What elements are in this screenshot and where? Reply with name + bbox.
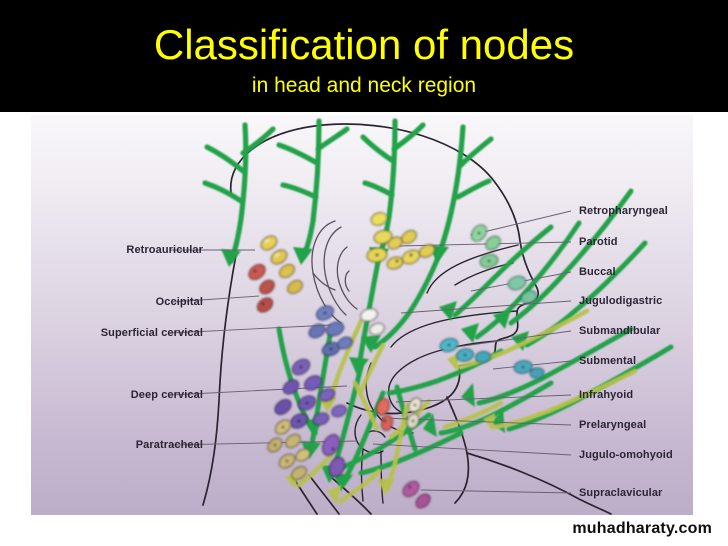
- label-jugulodigastric: Jugulodigastric: [579, 295, 662, 307]
- submandibular-nodes: [439, 337, 492, 364]
- label-occipital: Occipital: [31, 296, 203, 308]
- label-superficial-cervical: Superficial cervical: [31, 327, 203, 339]
- page-subtitle: in head and neck region: [0, 74, 728, 98]
- ear-outline: [312, 221, 357, 323]
- label-paratracheal: Paratracheal: [31, 439, 203, 451]
- lymph-node-diagram: Retroauricular Occipital Superficial cer…: [31, 115, 693, 515]
- lymphatic-vessels-scalp: [205, 121, 491, 261]
- slide-canvas: Classification of nodes in head and neck…: [0, 0, 728, 546]
- label-submental: Submental: [579, 355, 636, 367]
- footer-watermark: muhadharaty.com: [572, 520, 712, 538]
- label-prelaryngeal: Prelaryngeal: [579, 419, 646, 431]
- label-deep-cervical: Deep cervical: [31, 389, 203, 401]
- page-title: Classification of nodes: [0, 22, 728, 68]
- label-retroauricular: Retroauricular: [31, 244, 203, 256]
- title-band: Classification of nodes in head and neck…: [0, 0, 728, 112]
- label-retropharyngeal: Retropharyngeal: [579, 205, 668, 217]
- facial-interior-outline: [355, 245, 518, 503]
- label-submandibular: Submandibular: [579, 325, 660, 337]
- label-supraclavicular: Supraclavicular: [579, 487, 662, 499]
- parotid-nodes: [366, 211, 437, 271]
- label-parotid: Parotid: [579, 236, 618, 248]
- occipital-nodes: [246, 261, 277, 314]
- slide-body: Retroauricular Occipital Superficial cer…: [0, 112, 728, 546]
- label-infrahyoid: Infrahyoid: [579, 389, 633, 401]
- retropharyngeal-nodes: [468, 222, 502, 269]
- submental-nodes: [513, 359, 545, 379]
- label-jugulo-omohyoid: Jugulo-omohyoid: [579, 449, 673, 461]
- paratracheal-nodes: [265, 417, 312, 482]
- supraclavicular-nodes: [400, 478, 433, 510]
- label-buccal: Buccal: [579, 266, 616, 278]
